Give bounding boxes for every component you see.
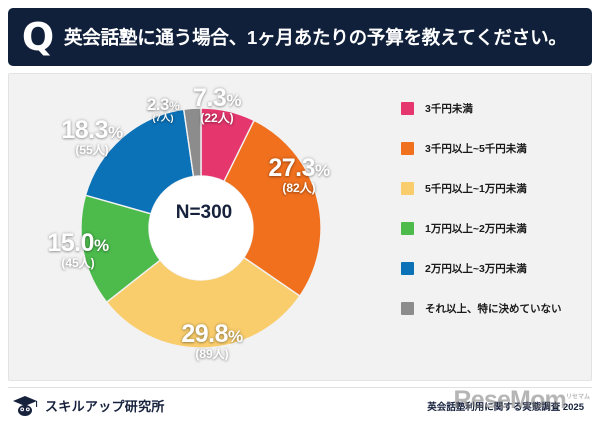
legend-swatch [401, 142, 414, 155]
page-title: 英会話塾に通う場合、1ヶ月あたりの予算を教えてください。 [64, 24, 567, 50]
legend-label: 3千円未満 [425, 101, 473, 116]
legend-swatch [401, 102, 414, 115]
chart-legend: 3千円未満3千円以上~5千円未満5千円以上~1万円未満1万円以上~2万円未満2万… [401, 88, 592, 328]
legend-swatch [401, 222, 414, 235]
donut-chart-svg [9, 74, 399, 381]
survey-source-note: 英会話塾利用に関する実態調査 2025 [427, 399, 584, 413]
chart-panel: N=300 7.3% (22人) 27.3% (82人) 29.8% (89人)… [8, 73, 592, 381]
donut-chart [9, 74, 399, 381]
legend-label: 1万円以上~2万円未満 [425, 221, 527, 236]
legend-swatch [401, 182, 414, 195]
legend-item[interactable]: 3千円以上~5千円未満 [401, 128, 592, 168]
question-header: Q 英会話塾に通う場合、1ヶ月あたりの予算を教えてください。 [8, 8, 592, 66]
legend-label: 2万円以上~3万円未満 [425, 261, 527, 276]
legend-item[interactable]: 1万円以上~2万円未満 [401, 208, 592, 248]
legend-swatch [401, 302, 414, 315]
legend-item[interactable]: それ以上、特に決めていない [401, 288, 592, 328]
legend-item[interactable]: 5千円以上~1万円未満 [401, 168, 592, 208]
brand-lockup: スキルアップ研究所 [12, 395, 165, 417]
footer: スキルアップ研究所 英会話塾利用に関する実態調査 2025 ReseMomリセマ… [8, 387, 592, 423]
legend-label: 5千円以上~1万円未満 [425, 181, 527, 196]
legend-item[interactable]: 3千円未満 [401, 88, 592, 128]
graduation-cap-logo-icon [12, 395, 38, 417]
legend-label: それ以上、特に決めていない [425, 301, 562, 316]
legend-swatch [401, 262, 414, 275]
brand-name: スキルアップ研究所 [45, 396, 165, 415]
slide-root: Q 英会話塾に通う場合、1ヶ月あたりの予算を教えてください。 N=300 7.3… [0, 0, 600, 427]
donut-center-hole [149, 176, 253, 280]
legend-item[interactable]: 2万円以上~3万円未満 [401, 248, 592, 288]
question-badge: Q [18, 17, 58, 57]
legend-label: 3千円以上~5千円未満 [425, 141, 527, 156]
